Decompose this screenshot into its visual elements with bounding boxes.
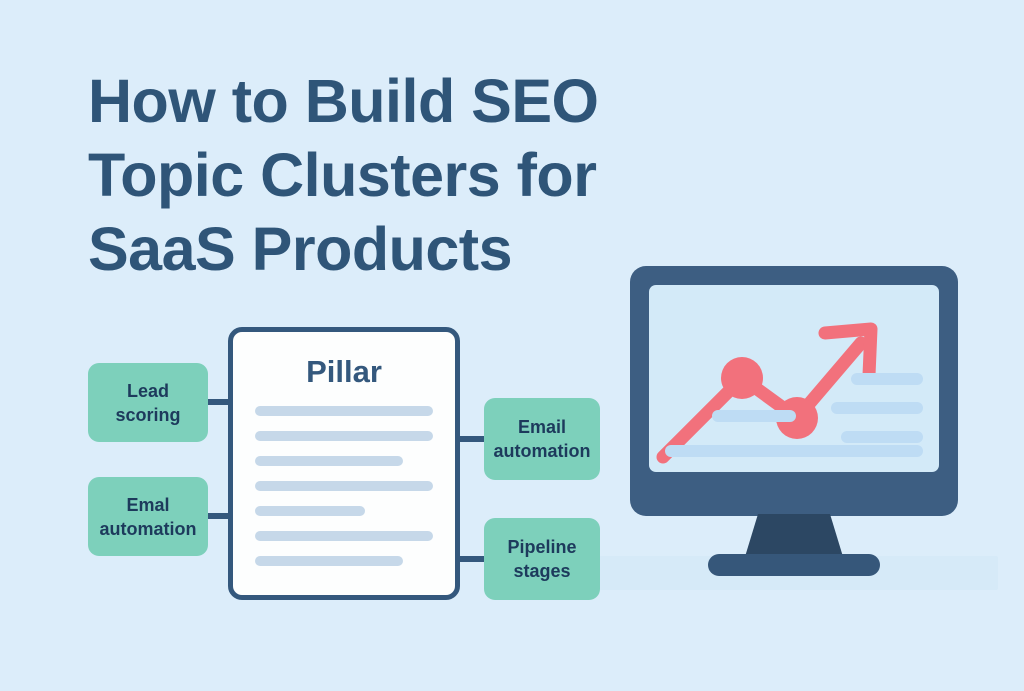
- cluster-chip-email-automation[interactable]: Email automation: [484, 398, 600, 480]
- screen-placeholder-bar: [712, 410, 796, 422]
- screen-placeholder-bar: [851, 373, 923, 385]
- desktop-monitor-icon: [630, 266, 970, 576]
- pillar-card[interactable]: Pillar: [228, 327, 460, 600]
- screen-placeholder-bar: [831, 402, 923, 414]
- cluster-chip-pipeline-stages[interactable]: Pipeline stages: [484, 518, 600, 600]
- topic-cluster-diagram: Pillar Lead scoring Emal automation: [0, 0, 640, 691]
- chip-line-2: automation: [494, 439, 591, 463]
- pillar-line: [255, 406, 433, 416]
- pillar-line: [255, 481, 433, 491]
- chip-line-1: Pipeline: [507, 535, 576, 559]
- pillar-title: Pillar: [255, 354, 433, 390]
- chip-line-1: Lead: [115, 379, 180, 403]
- pillar-text-lines: [255, 406, 433, 566]
- screen-placeholder-bar: [665, 445, 923, 457]
- pillar-line: [255, 431, 433, 441]
- chip-line-2: stages: [507, 559, 576, 583]
- monitor-stand-base: [708, 554, 880, 576]
- chip-line-1: Emal: [100, 493, 197, 517]
- screen-placeholder-bar: [841, 431, 923, 443]
- cluster-chip-emal-automation[interactable]: Emal automation: [88, 477, 208, 556]
- monitor-bezel: [630, 266, 958, 516]
- pillar-line: [255, 456, 403, 466]
- chip-line-2: automation: [100, 517, 197, 541]
- cluster-chip-lead-scoring[interactable]: Lead scoring: [88, 363, 208, 442]
- pillar-line: [255, 506, 365, 516]
- monitor-screen: [649, 285, 939, 472]
- pillar-line: [255, 556, 403, 566]
- illustration-canvas: How to Build SEO Topic Clusters for SaaS…: [0, 0, 1024, 691]
- chip-line-1: Email: [494, 415, 591, 439]
- chip-line-2: scoring: [115, 403, 180, 427]
- pillar-line: [255, 531, 433, 541]
